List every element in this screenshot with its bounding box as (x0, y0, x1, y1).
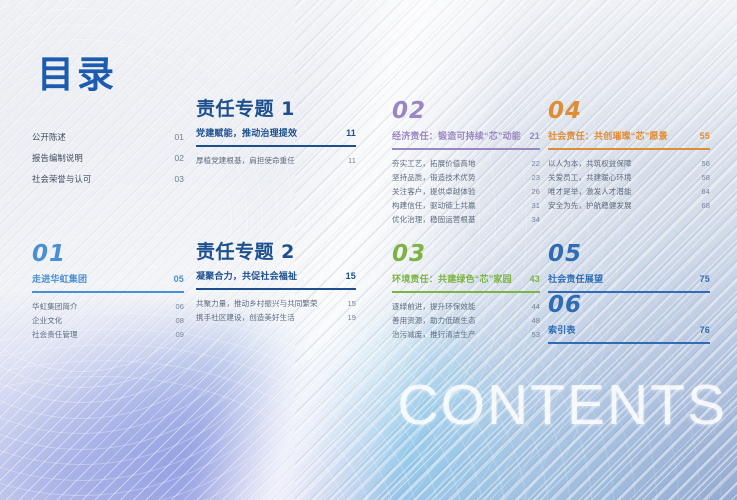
toc-main-page: 21 (522, 131, 540, 141)
toc-sub-label: 共聚力量，推动乡村振兴与共同繁荣 (196, 300, 318, 308)
toc-main-entry[interactable]: 社会责任展望75 (548, 272, 710, 289)
toc-sub-page: 34 (523, 216, 540, 224)
section-number: 05 (548, 243, 710, 266)
toc-sub-entry[interactable]: 善用资源，助力低碳生态48 (392, 314, 540, 328)
toc-main-label: 凝聚合力，共促社会福祉 (196, 269, 297, 282)
toc-main-label: 社会责任展望 (548, 272, 603, 285)
toc-main-label: 环境责任：共建绿色“芯”家园 (392, 272, 512, 285)
section-rule (196, 145, 356, 147)
toc-sub-entry[interactable]: 唯才是举，激发人才潜能64 (548, 185, 710, 199)
toc-sub-label: 善用资源，助力低碳生态 (392, 317, 476, 325)
toc-sub-page: 22 (523, 160, 540, 168)
toc-sub-page: 23 (523, 174, 540, 182)
toc-sub-label: 厚植党建根基，肩担使命重任 (196, 157, 295, 165)
section-rule (392, 148, 540, 150)
toc-sub-page: 26 (523, 188, 540, 196)
toc-main-label: 走进华虹集团 (32, 272, 87, 285)
toc-sub-entry[interactable]: 关爱员工，共建暖心环境58 (548, 171, 710, 185)
toc-sub-label: 关爱员工，共建暖心环境 (548, 174, 632, 182)
toc-sub-page: 31 (523, 202, 540, 210)
toc-sub-page: 53 (523, 331, 540, 339)
toc-main-entry[interactable]: 党建赋能，推动治理提效11 (196, 126, 356, 143)
toc-main-entry[interactable]: 社会责任：共创璀璨“芯”愿景55 (548, 129, 710, 146)
toc-main-entry[interactable]: 凝聚合力，共促社会福祉15 (196, 269, 356, 286)
toc-sub-entry[interactable]: 社会责任管理09 (32, 328, 184, 342)
toc-sub-entry[interactable]: 坚持品质，锻造技术优势23 (392, 171, 540, 185)
toc-sub-entry[interactable]: 以人为本，共筑权益保障56 (548, 157, 710, 171)
toc-sub-label: 报告编制说明 (32, 154, 83, 162)
toc-main-page: 76 (692, 325, 710, 335)
topic-heading: 责任专题 2 (196, 243, 356, 262)
toc-main-page: 75 (692, 274, 710, 284)
toc-main-label: 经济责任：锻造可持续“芯”动能 (392, 129, 521, 142)
section-number: 06 (548, 294, 710, 317)
toc-sub-entry[interactable]: 夯实工艺，拓展价值高地22 (392, 157, 540, 171)
toc-sub-page: 58 (693, 174, 710, 182)
toc-sub-label: 安全为先，护航稳健发展 (548, 202, 632, 210)
toc-sub-page: 68 (693, 202, 710, 210)
toc-sub-page: 09 (167, 331, 184, 339)
toc-sub-page: 44 (523, 303, 540, 311)
toc-sub-entry[interactable]: 共聚力量，推动乡村振兴与共同繁荣15 (196, 297, 356, 311)
section-number: 02 (392, 100, 540, 123)
toc-sub-page: 56 (693, 160, 710, 168)
toc-block-section-06: 06索引表76 (548, 294, 710, 351)
toc-sub-label: 携手社区建设，创造美好生活 (196, 314, 295, 322)
toc-sub-entry[interactable]: 安全为先，护航稳健发展68 (548, 199, 710, 213)
toc-sub-page: 06 (167, 303, 184, 311)
toc-block-section-04: 04社会责任：共创璀璨“芯”愿景55以人为本，共筑权益保障56关爱员工，共建暖心… (548, 100, 710, 213)
toc-block-section-03: 03环境责任：共建绿色“芯”家园43逐绿前进，提升环保效能44善用资源，助力低碳… (392, 243, 540, 342)
toc-sub-label: 社会责任管理 (32, 331, 78, 339)
toc-block-topic-1: 责任专题 1党建赋能，推动治理提效11厚植党建根基，肩担使命重任11 (196, 100, 356, 168)
toc-sub-page: 01 (166, 133, 184, 141)
toc-sub-entry[interactable]: 治污减废，推行清洁生产53 (392, 328, 540, 342)
section-rule (32, 291, 184, 293)
toc-block-section-02: 02经济责任：锻造可持续“芯”动能21夯实工艺，拓展价值高地22坚持品质，锻造技… (392, 100, 540, 226)
toc-sub-entry[interactable]: 关注客户，提供卓越体验26 (392, 185, 540, 199)
toc-main-label: 社会责任：共创璀璨“芯”愿景 (548, 129, 668, 142)
toc-sub-page: 08 (167, 317, 184, 325)
toc-sub-page: 03 (166, 175, 184, 183)
toc-sub-label: 以人为本，共筑权益保障 (548, 160, 632, 168)
topic-heading: 责任专题 1 (196, 100, 356, 119)
toc-sub-label: 关注客户，提供卓越体验 (392, 188, 476, 196)
toc-main-page: 15 (338, 271, 356, 281)
toc-block-front-matter: 公开陈述01报告编制说明02社会荣誉与认可03 (32, 126, 184, 190)
toc-sub-page: 02 (166, 154, 184, 162)
section-rule (548, 342, 710, 344)
toc-sub-label: 构建信任，驱动链上共赢 (392, 202, 476, 210)
toc-sub-page: 19 (339, 314, 356, 322)
toc-sub-label: 华虹集团简介 (32, 303, 78, 311)
toc-sub-page: 48 (523, 317, 540, 325)
toc-main-entry[interactable]: 走进华虹集团05 (32, 272, 184, 289)
toc-sub-entry[interactable]: 携手社区建设，创造美好生活19 (196, 311, 356, 325)
toc-grid: 公开陈述01报告编制说明02社会荣誉与认可03责任专题 1党建赋能，推动治理提效… (0, 0, 737, 500)
toc-sub-label: 治污减废，推行清洁生产 (392, 331, 476, 339)
toc-main-page: 05 (166, 274, 184, 284)
section-number: 04 (548, 100, 710, 123)
toc-sub-entry[interactable]: 华虹集团简介06 (32, 300, 184, 314)
toc-main-page: 55 (692, 131, 710, 141)
toc-sub-page: 11 (340, 157, 356, 165)
section-number: 03 (392, 243, 540, 266)
toc-sub-page: 64 (693, 188, 710, 196)
toc-sub-entry[interactable]: 公开陈述01 (32, 126, 184, 147)
toc-main-page: 43 (522, 274, 540, 284)
toc-sub-entry[interactable]: 报告编制说明02 (32, 147, 184, 168)
toc-sub-entry[interactable]: 优化治理，稳固运营根基34 (392, 213, 540, 227)
toc-sub-label: 优化治理，稳固运营根基 (392, 216, 476, 224)
toc-block-topic-2: 责任专题 2凝聚合力，共促社会福祉15共聚力量，推动乡村振兴与共同繁荣15携手社… (196, 243, 356, 325)
toc-sub-entry[interactable]: 厚植党建根基，肩担使命重任11 (196, 154, 356, 168)
toc-main-page: 11 (338, 128, 356, 138)
toc-block-section-01: 01走进华虹集团05华虹集团简介06企业文化08社会责任管理09 (32, 243, 184, 342)
toc-sub-page: 15 (339, 300, 356, 308)
toc-page: CONTENTS 目录 公开陈述01报告编制说明02社会荣誉与认可03责任专题 … (0, 0, 737, 500)
toc-main-entry[interactable]: 索引表76 (548, 323, 710, 340)
toc-sub-entry[interactable]: 逐绿前进，提升环保效能44 (392, 300, 540, 314)
toc-sub-label: 企业文化 (32, 317, 62, 325)
toc-sub-label: 坚持品质，锻造技术优势 (392, 174, 476, 182)
toc-main-entry[interactable]: 经济责任：锻造可持续“芯”动能21 (392, 129, 540, 146)
toc-sub-label: 社会荣誉与认可 (32, 175, 91, 183)
toc-sub-label: 夯实工艺，拓展价值高地 (392, 160, 476, 168)
section-rule (548, 148, 710, 150)
toc-sub-label: 公开陈述 (32, 133, 66, 141)
toc-main-label: 党建赋能，推动治理提效 (196, 126, 297, 139)
section-number: 01 (32, 243, 184, 266)
toc-sub-entry[interactable]: 企业文化08 (32, 314, 184, 328)
toc-sub-entry[interactable]: 社会荣誉与认可03 (32, 169, 184, 190)
toc-sub-entry[interactable]: 构建信任，驱动链上共赢31 (392, 199, 540, 213)
toc-main-entry[interactable]: 环境责任：共建绿色“芯”家园43 (392, 272, 540, 289)
toc-main-label: 索引表 (548, 323, 576, 336)
toc-sub-label: 唯才是举，激发人才潜能 (548, 188, 632, 196)
section-rule (392, 291, 540, 293)
section-rule (196, 288, 356, 290)
toc-sub-label: 逐绿前进，提升环保效能 (392, 303, 476, 311)
